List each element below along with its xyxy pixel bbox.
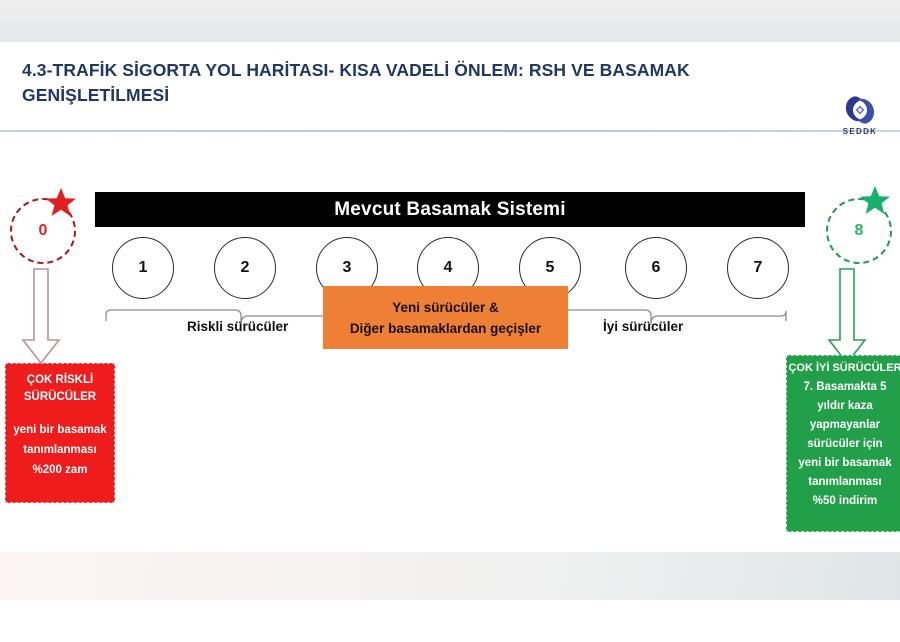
bottom-chrome-band xyxy=(0,552,900,600)
callout-body-line6: tanımlanması xyxy=(788,473,900,492)
callout-heading-line1: ÇOK RİSKLİ xyxy=(8,372,112,389)
group-label-text: Riskli sürücüler xyxy=(187,319,288,334)
tier-circle-label: 3 xyxy=(343,259,352,277)
banner-mevcut-basamak-sistemi: Mevcut Basamak Sistemi xyxy=(95,192,805,227)
callout-heading: ÇOK İYİ SÜRÜCÜLER xyxy=(788,361,900,376)
callout-heading-line2: SÜRÜCÜLER xyxy=(8,389,112,406)
orange-callout-yeni-surucüler: Yeni sürücüler & Diğer basamaklardan geç… xyxy=(323,286,568,349)
callout-body-line1: 7. Basamakta 5 xyxy=(788,378,900,397)
callout-cok-iyi-surucüler: ÇOK İYİ SÜRÜCÜLER 7. Basamakta 5 yıldır … xyxy=(786,355,900,532)
group-label-riskli-surucüler: Riskli sürücüler xyxy=(187,319,288,334)
page-title: 4.3-TRAFİK SİGORTA YOL HARİTASI- KISA VA… xyxy=(22,58,762,108)
header-divider xyxy=(0,130,900,132)
callout-body-line4: sürücüler için xyxy=(788,435,900,454)
callout-body-line2: tanımlanması xyxy=(8,440,112,460)
tier-circle-6[interactable]: 6 xyxy=(625,237,687,299)
callout-body-line3: yapmayanlar xyxy=(788,416,900,435)
slide-body: 4.3-TRAFİK SİGORTA YOL HARİTASI- KISA VA… xyxy=(0,42,900,552)
callout-body-line1: yeni bir basamak xyxy=(8,420,112,440)
callout-body-line2: yıldır kaza xyxy=(788,397,900,416)
tier-circle-2[interactable]: 2 xyxy=(214,237,276,299)
tier-circle-7[interactable]: 7 xyxy=(727,237,789,299)
seddk-logo-text: SEDDK xyxy=(832,127,888,136)
arrow-down-right xyxy=(824,268,870,366)
slide-canvas: 4.3-TRAFİK SİGORTA YOL HARİTASI- KISA VA… xyxy=(0,0,900,600)
arrow-down-left xyxy=(18,268,64,366)
banner-label: Mevcut Basamak Sistemi xyxy=(334,199,565,221)
star-icon-green xyxy=(858,184,892,218)
star-icon-red xyxy=(44,186,78,220)
tier-circle-label: 2 xyxy=(241,259,250,277)
tier-circle-label: 5 xyxy=(546,259,555,277)
seddk-logo: SEDDK xyxy=(832,94,888,146)
tier-circle-label: 1 xyxy=(139,259,148,277)
group-label-iyi-surucüler: İyi sürücüler xyxy=(603,319,683,334)
seddk-mark-icon xyxy=(842,94,878,126)
tier-circle-label: 0 xyxy=(39,222,48,240)
group-label-text: İyi sürücüler xyxy=(603,319,683,334)
callout-body-line5: yeni bir basamak xyxy=(788,454,900,473)
tier-circle-label: 8 xyxy=(855,222,864,240)
orange-callout-line2: Diğer basamaklardan geçişler xyxy=(350,318,541,339)
tier-circle-label: 6 xyxy=(652,259,661,277)
callout-body-line7: %50 indirim xyxy=(788,492,900,511)
tier-circle-label: 7 xyxy=(754,259,763,277)
top-chrome-band xyxy=(0,0,900,42)
tier-circle-1[interactable]: 1 xyxy=(112,237,174,299)
callout-cok-riskli-surucüler: ÇOK RİSKLİ SÜRÜCÜLER yeni bir basamak ta… xyxy=(5,363,115,503)
callout-body-line3: %200 zam xyxy=(8,460,112,480)
tier-circle-label: 4 xyxy=(444,259,453,277)
orange-callout-line1: Yeni sürücüler & xyxy=(392,297,499,318)
